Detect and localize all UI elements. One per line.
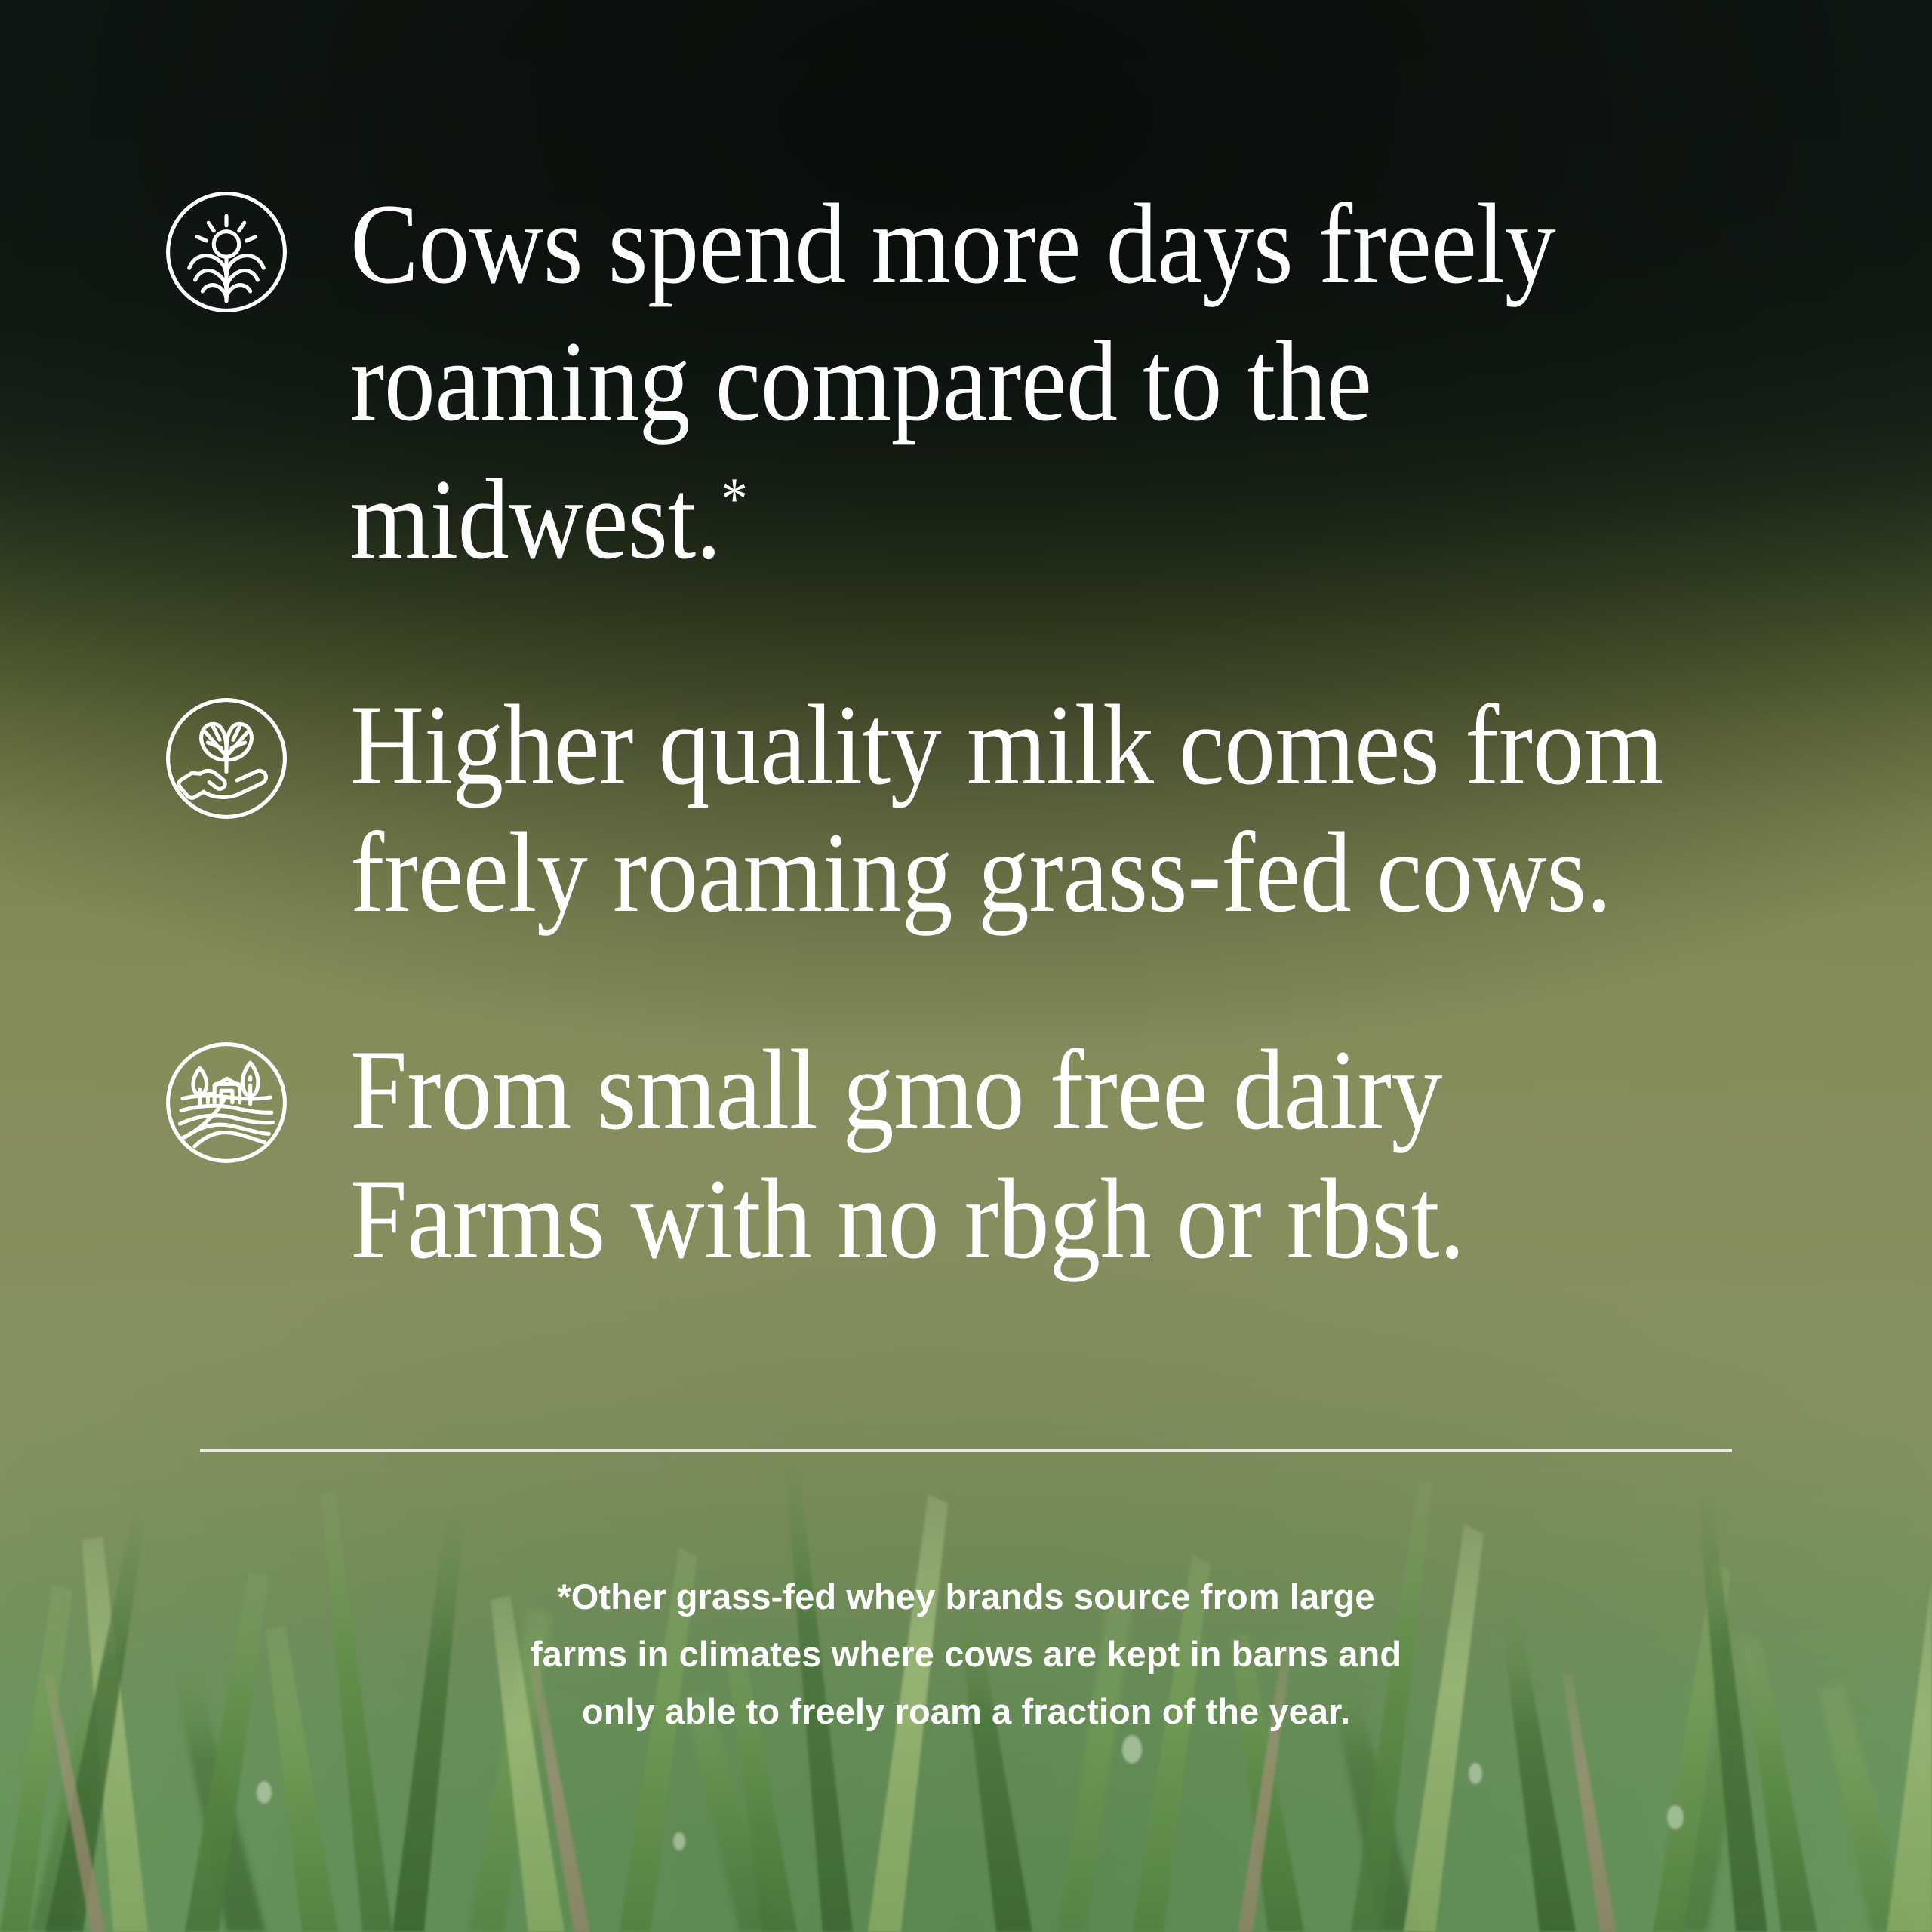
benefit-text: Cows spend more days freely roaming comp… (350, 175, 1720, 588)
farm-barn-fields-icon (160, 1036, 293, 1169)
benefit-item: Cows spend more days freely roaming comp… (160, 175, 1881, 588)
footnote-line: farms in climates where cows are kept in… (355, 1626, 1577, 1683)
benefit-text: Higher quality milk comes from freely ro… (350, 681, 1720, 936)
footnote-disclaimer: *Other grass-fed whey brands source from… (355, 1568, 1577, 1740)
benefits-list: Cows spend more days freely roaming comp… (160, 175, 1881, 1284)
hand-holding-plant-icon (160, 692, 293, 825)
benefit-label: Higher quality milk comes from freely ro… (350, 681, 1663, 936)
benefit-label: Cows spend more days freely roaming comp… (350, 180, 1555, 583)
section-divider (200, 1449, 1732, 1452)
benefit-text: From small gmo free dairy Farms with no … (350, 1026, 1720, 1285)
promo-poster: Cows spend more days freely roaming comp… (0, 0, 1932, 1932)
footnote-marker: * (721, 466, 747, 532)
footnote-line: *Other grass-fed whey brands source from… (355, 1568, 1577, 1626)
footnote-line: only able to freely roam a fraction of t… (355, 1683, 1577, 1740)
sunrise-over-fields-icon (160, 186, 293, 318)
benefit-label: From small gmo free dairy Farms with no … (350, 1026, 1465, 1283)
poster-content: Cows spend more days freely roaming comp… (0, 0, 1932, 1932)
benefit-item: From small gmo free dairy Farms with no … (160, 1026, 1881, 1285)
benefit-item: Higher quality milk comes from freely ro… (160, 681, 1881, 936)
